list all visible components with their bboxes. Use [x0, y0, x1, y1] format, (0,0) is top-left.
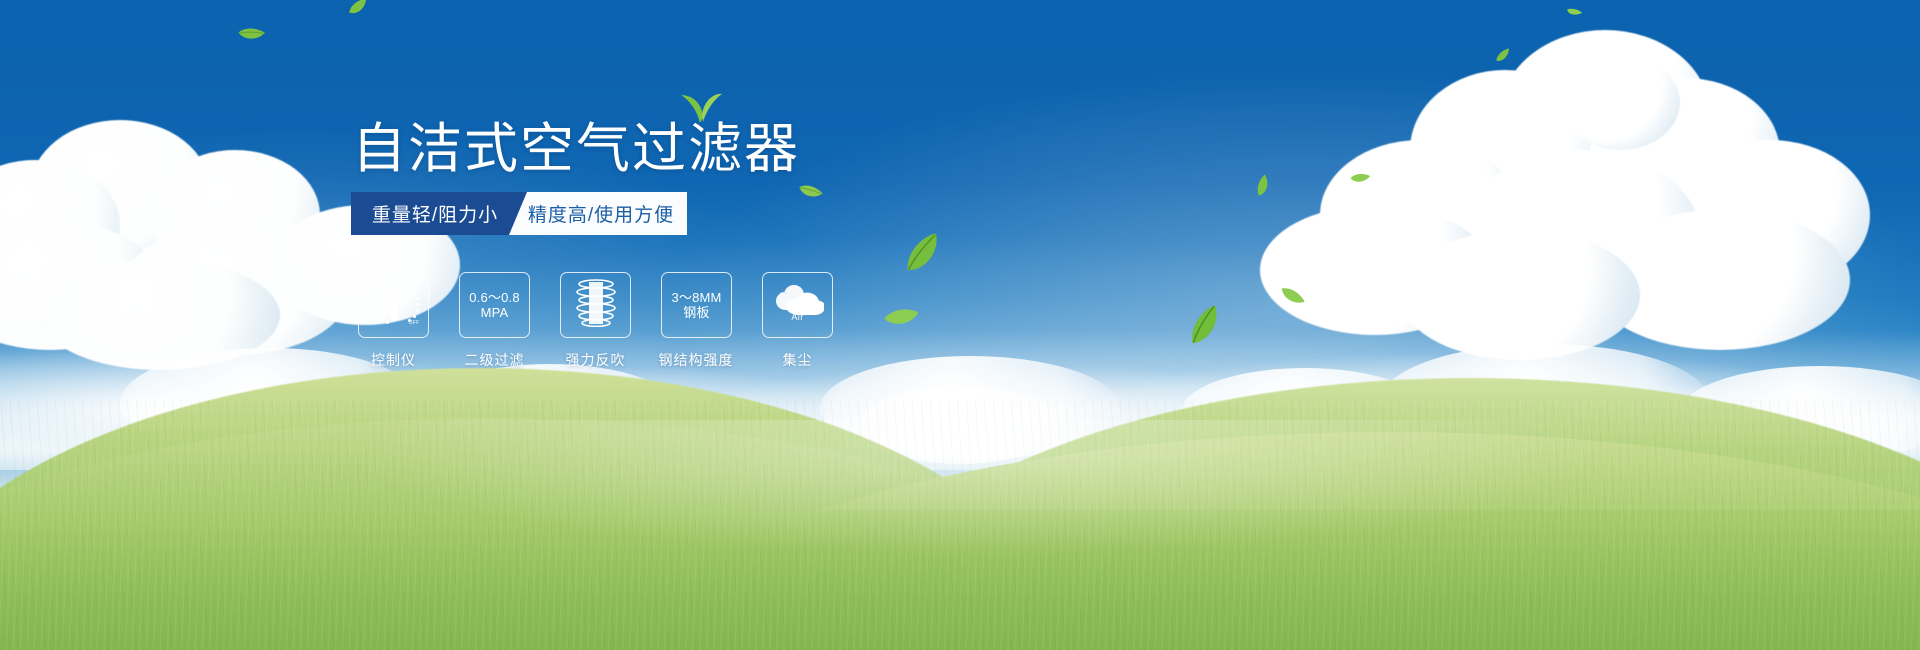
- feature-item-controller[interactable]: NO OFF 控制仪: [358, 272, 429, 370]
- steel-value-line2: 钢板: [683, 305, 709, 320]
- feature-item-dust-collection[interactable]: Air 集尘: [762, 272, 833, 370]
- feature-icon-box: [560, 272, 631, 338]
- air-label: Air: [772, 312, 824, 322]
- feature-icon-box: 0.6～0.8 MPA: [459, 272, 530, 338]
- feature-icon-box: 3～8MM 钢板: [661, 272, 732, 338]
- feature-icon-box: Air: [762, 272, 833, 338]
- feature-caption: 控制仪: [349, 350, 438, 370]
- feature-icon-box: NO OFF: [358, 272, 429, 338]
- page-title: 自洁式空气过滤器: [352, 118, 800, 180]
- feature-caption: 钢结构强度: [646, 350, 746, 370]
- feature-item-pressure[interactable]: 0.6～0.8 MPA 二级过滤: [459, 272, 530, 370]
- title-sprout-leaf-icon: [679, 90, 723, 129]
- gauge-label-off: OFF: [409, 320, 420, 326]
- gauge-label-no: NO: [368, 306, 376, 312]
- feature-item-reverse-blow[interactable]: 强力反吹: [560, 272, 631, 370]
- air-cloud-icon: Air: [772, 284, 824, 326]
- gauge-dial-icon: NO OFF: [369, 281, 419, 329]
- tagline-pill-1[interactable]: 重量轻/阻力小: [351, 192, 527, 235]
- feature-item-steel-plate[interactable]: 3～8MM 钢板 钢结构强度: [661, 272, 732, 370]
- steel-value-line1: 3～8MM: [671, 290, 721, 305]
- pressure-value-line2: MPA: [481, 305, 509, 320]
- hero-banner: 自洁式空气过滤器 重量轻/阻力小 精度高/使用方便: [0, 0, 1920, 650]
- tagline-pills: 重量轻/阻力小 精度高/使用方便: [351, 192, 687, 235]
- reverse-blow-filter-icon: [574, 279, 618, 332]
- pressure-value-line1: 0.6～0.8: [469, 290, 520, 305]
- feature-caption: 强力反吹: [551, 350, 640, 370]
- feature-caption: 集尘: [753, 350, 842, 370]
- feature-caption: 二级过滤: [450, 350, 539, 370]
- feature-list: NO OFF 控制仪 0.6～0.8 MPA 二级过滤: [358, 272, 833, 370]
- gauge-needle: [390, 290, 398, 321]
- banner-copy: 自洁式空气过滤器 重量轻/阻力小 精度高/使用方便: [0, 0, 1920, 650]
- tagline-pill-2[interactable]: 精度高/使用方便: [509, 192, 687, 235]
